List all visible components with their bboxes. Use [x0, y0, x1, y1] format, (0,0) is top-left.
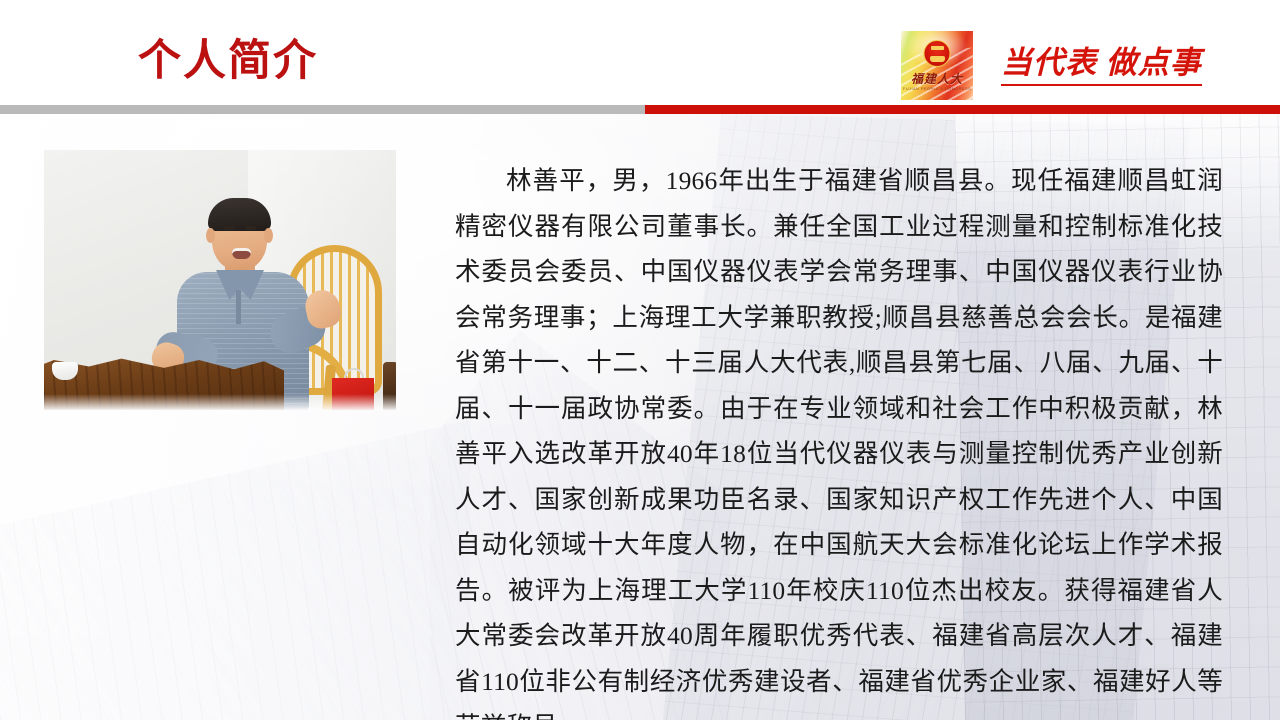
polo-placket: [236, 290, 241, 324]
person-ear-right: [264, 228, 273, 243]
divider-red-segment: [645, 105, 1280, 114]
portrait-photo: [44, 150, 396, 410]
header-divider: [0, 105, 1280, 114]
person-mouth: [232, 248, 251, 259]
slide-header: 个人简介 福建人大 FUJIAN PEOPLE'S CONGRESS 当代表 做…: [0, 0, 1280, 105]
person-eye-left: [224, 226, 235, 230]
page-title: 个人简介: [138, 40, 318, 83]
person-eye-right: [245, 226, 256, 230]
national-emblem-icon: [924, 40, 951, 67]
person-hair: [208, 198, 271, 231]
watermark-building-left: [0, 420, 470, 720]
brand-block: 福建人大 FUJIAN PEOPLE'S CONGRESS 当代表 做点事: [897, 28, 1202, 103]
logo-wordmark: 福建人大: [901, 70, 973, 87]
person-ear-left: [206, 228, 215, 243]
logo-subtitle: FUJIAN PEOPLE'S CONGRESS: [901, 86, 973, 91]
slide-canvas: 个人简介 福建人大 FUJIAN PEOPLE'S CONGRESS 当代表 做…: [0, 0, 1280, 720]
fujian-rendas-logo: 福建人大 FUJIAN PEOPLE'S CONGRESS: [897, 28, 977, 103]
tea-cup: [52, 362, 78, 380]
divider-grey-segment: [0, 105, 645, 114]
biography-paragraph: 林善平，男，1966年出生于福建省顺昌县。现任福建顺昌虹润精密仪器有限公司董事长…: [455, 158, 1223, 720]
logo-gradient-panel: 福建人大 FUJIAN PEOPLE'S CONGRESS: [901, 31, 973, 100]
brand-slogan: 当代表 做点事: [1001, 45, 1202, 86]
photo-fade-bottom: [44, 394, 396, 410]
